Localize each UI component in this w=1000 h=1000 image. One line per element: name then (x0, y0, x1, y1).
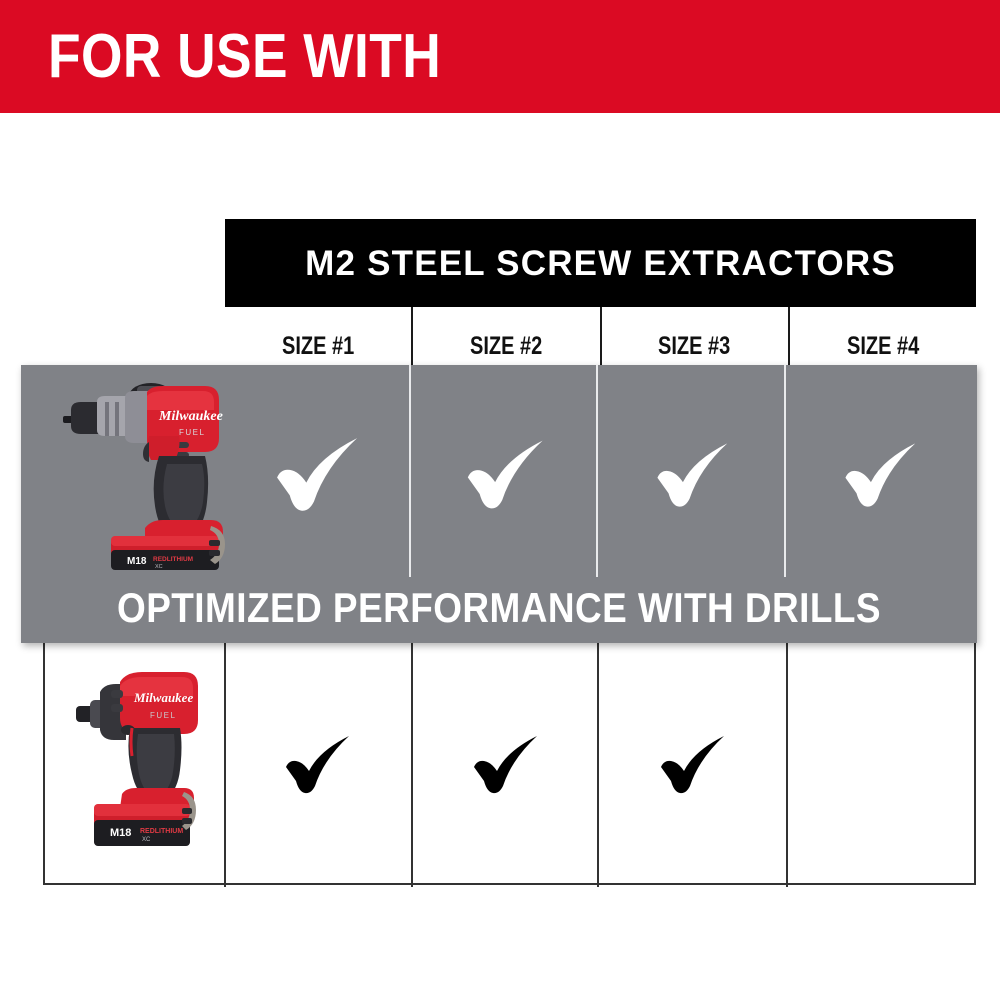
tool-image-hammer-drill: Milwaukee FUEL M18 REDLITHIUM XC (55, 380, 230, 575)
checkmark-icon (463, 437, 551, 513)
category-header: M2 STEEL SCREW EXTRACTORS (225, 219, 976, 307)
checkmark-row-hammer-drill (225, 375, 976, 575)
svg-text:M18: M18 (110, 827, 131, 839)
checkmark-icon (272, 434, 366, 516)
column-header-size-3: SIZE #3 (602, 307, 790, 365)
check-cell-size-4-empty (788, 650, 976, 880)
checkmark-icon (282, 733, 356, 797)
checkmark-icon (653, 440, 735, 511)
check-cell-size-1 (225, 375, 413, 575)
checkmark-icon (841, 440, 923, 511)
column-header-label: SIZE #4 (847, 334, 919, 359)
svg-text:FUEL: FUEL (179, 428, 205, 437)
tool-image-impact-driver: Milwaukee FUEL M18 REDLITHIUM XC (72, 662, 217, 867)
column-header-size-1: SIZE #1 (225, 307, 413, 365)
column-header-label: SIZE #2 (470, 334, 542, 359)
column-header-size-2: SIZE #2 (413, 307, 601, 365)
highlight-band-caption: OPTIMIZED PERFORMANCE WITH DRILLS (78, 587, 919, 629)
column-header-size-4: SIZE #4 (790, 307, 976, 365)
check-cell-size-3 (601, 650, 789, 880)
column-header-row: SIZE #1 SIZE #2 SIZE #3 SIZE #4 (225, 307, 976, 365)
checkmark-icon (470, 733, 544, 797)
checkmark-icon (657, 733, 731, 797)
svg-text:XC: XC (155, 564, 163, 570)
check-cell-size-2 (413, 650, 601, 880)
svg-text:FUEL: FUEL (150, 711, 176, 720)
svg-text:XC: XC (142, 837, 151, 843)
compatibility-table: M2 STEEL SCREW EXTRACTORS SIZE #1 SIZE #… (0, 0, 1000, 1000)
svg-text:Milwaukee: Milwaukee (133, 690, 193, 705)
column-header-label: SIZE #3 (658, 334, 730, 359)
check-cell-size-3 (601, 375, 789, 575)
svg-text:Milwaukee: Milwaukee (158, 409, 223, 424)
svg-text:REDLITHIUM: REDLITHIUM (153, 556, 193, 563)
checkmark-row-impact-driver (225, 650, 976, 880)
check-cell-size-2 (413, 375, 601, 575)
column-header-label: SIZE #1 (282, 334, 354, 359)
check-cell-size-4 (788, 375, 976, 575)
check-cell-size-1 (225, 650, 413, 880)
svg-text:M18: M18 (127, 556, 147, 567)
svg-text:REDLITHIUM: REDLITHIUM (140, 828, 183, 835)
category-header-label: M2 STEEL SCREW EXTRACTORS (225, 246, 976, 281)
